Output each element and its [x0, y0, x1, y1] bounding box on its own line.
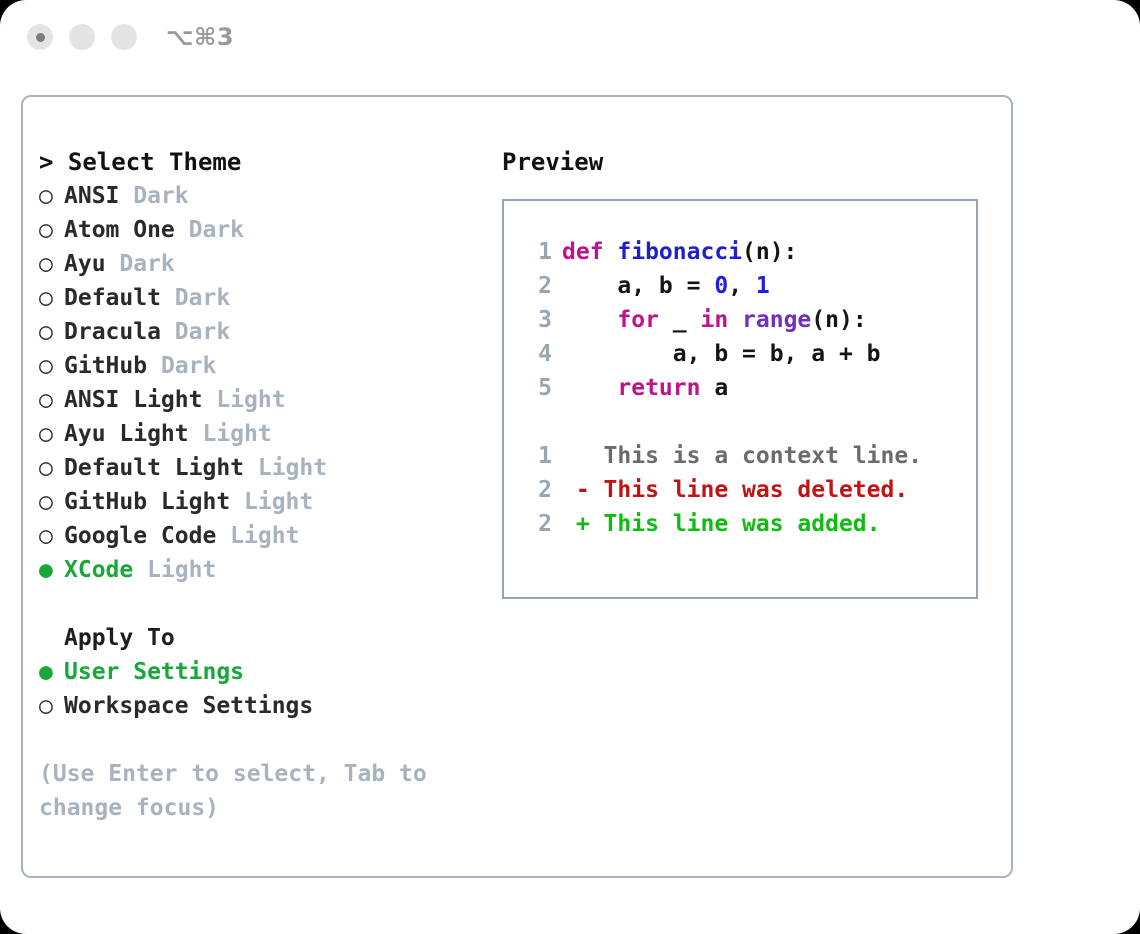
- theme-list-item[interactable]: ●XCode Light: [39, 553, 479, 587]
- theme-name: Ayu Light: [64, 421, 189, 447]
- code-token: for: [562, 307, 673, 333]
- code-token: (n):: [742, 239, 797, 265]
- code-token: fibonacci: [617, 239, 742, 265]
- code-token: return: [562, 375, 714, 401]
- radio-unselected-icon: ○: [39, 689, 64, 723]
- theme-list-item[interactable]: ○Ayu Dark: [39, 247, 479, 281]
- code-token: 1: [756, 273, 770, 299]
- theme-list-item[interactable]: ○Google Code Light: [39, 519, 479, 553]
- apply-to-label: User Settings: [64, 659, 244, 685]
- theme-list-item[interactable]: ○Ayu Light Light: [39, 417, 479, 451]
- radio-unselected-icon: ○: [39, 349, 64, 383]
- line-number: 1: [522, 235, 552, 269]
- radio-unselected-icon: ○: [39, 179, 64, 213]
- keyboard-hint-text: (Use Enter to select, Tab to change focu…: [39, 757, 439, 825]
- theme-name: Dracula: [64, 319, 161, 345]
- theme-name: Default: [64, 285, 161, 311]
- theme-list[interactable]: ○ANSI Dark○Atom One Dark○Ayu Dark○Defaul…: [39, 179, 479, 587]
- preview-heading: Preview: [502, 145, 992, 179]
- theme-variant-badge: Dark: [161, 319, 230, 345]
- window-dot-minimize[interactable]: [69, 24, 95, 50]
- code-token: range: [742, 307, 811, 333]
- radio-unselected-icon: ○: [39, 383, 64, 417]
- apply-to-list[interactable]: ●User Settings○Workspace Settings: [39, 655, 479, 723]
- theme-list-item[interactable]: ○Default Light Light: [39, 451, 479, 485]
- title-bar: ⌥⌘3: [0, 0, 1140, 78]
- code-token: ,: [728, 273, 756, 299]
- radio-unselected-icon: ○: [39, 451, 64, 485]
- line-number: 1: [522, 439, 552, 473]
- theme-variant-badge: Dark: [147, 353, 216, 379]
- theme-name: GitHub Light: [64, 489, 230, 515]
- theme-list-item[interactable]: ○Dracula Dark: [39, 315, 479, 349]
- radio-unselected-icon: ○: [39, 281, 64, 315]
- theme-name: Atom One: [64, 217, 175, 243]
- code-token: a, b = b, a + b: [562, 341, 881, 367]
- line-number: 2: [522, 507, 552, 541]
- code-token: a, b =: [562, 273, 714, 299]
- theme-list-item[interactable]: ○ANSI Dark: [39, 179, 479, 213]
- line-number: 3: [522, 303, 552, 337]
- line-number: 2: [522, 473, 552, 507]
- theme-name: Ayu: [64, 251, 106, 277]
- theme-name: ANSI Light: [64, 387, 202, 413]
- code-token: _: [673, 307, 701, 333]
- line-number: 2: [522, 269, 552, 303]
- diff-sample: 1 This is a context line.2 - This line w…: [504, 439, 976, 541]
- code-token: 0: [714, 273, 728, 299]
- apply-to-option[interactable]: ○Workspace Settings: [39, 689, 479, 723]
- theme-name: ANSI: [64, 183, 119, 209]
- code-token: a: [714, 375, 728, 401]
- radio-selected-icon: ●: [39, 553, 64, 587]
- window-dot-active-indicator: [36, 33, 45, 42]
- code-line: 4 a, b = b, a + b: [504, 337, 976, 371]
- radio-unselected-icon: ○: [39, 485, 64, 519]
- code-token: in: [700, 307, 742, 333]
- keyboard-shortcut-label: ⌥⌘3: [166, 23, 234, 51]
- theme-variant-badge: Dark: [161, 285, 230, 311]
- theme-variant-badge: Light: [244, 455, 327, 481]
- line-number: 5: [522, 371, 552, 405]
- theme-list-item[interactable]: ○Default Dark: [39, 281, 479, 315]
- diff-line: 1 This is a context line.: [504, 439, 976, 473]
- radio-unselected-icon: ○: [39, 417, 64, 451]
- code-token: def: [562, 239, 617, 265]
- preview-panel: 1def fibonacci(n):2 a, b = 0, 13 for _ i…: [502, 199, 978, 599]
- theme-variant-badge: Light: [189, 421, 272, 447]
- window-dot-close[interactable]: [27, 24, 53, 50]
- theme-variant-badge: Light: [216, 523, 299, 549]
- radio-unselected-icon: ○: [39, 247, 64, 281]
- window-controls: [27, 24, 137, 50]
- window-dot-maximize[interactable]: [111, 24, 137, 50]
- theme-list-item[interactable]: ○Atom One Dark: [39, 213, 479, 247]
- apply-to-heading: Apply To: [39, 621, 479, 655]
- code-line: 1def fibonacci(n):: [504, 235, 976, 269]
- diff-line: 2 + This line was added.: [504, 507, 976, 541]
- theme-variant-badge: Light: [202, 387, 285, 413]
- radio-unselected-icon: ○: [39, 315, 64, 349]
- code-token: - This line was deleted.: [562, 477, 908, 503]
- select-theme-heading: > Select Theme: [39, 145, 479, 179]
- theme-variant-badge: Dark: [106, 251, 175, 277]
- radio-unselected-icon: ○: [39, 213, 64, 247]
- line-number: 4: [522, 337, 552, 371]
- radio-unselected-icon: ○: [39, 519, 64, 553]
- theme-variant-badge: Dark: [175, 217, 244, 243]
- theme-name: XCode: [64, 557, 133, 583]
- apply-to-label: Workspace Settings: [64, 693, 313, 719]
- theme-variant-badge: Light: [133, 557, 216, 583]
- code-token: + This line was added.: [562, 511, 881, 537]
- code-line: 5 return a: [504, 371, 976, 405]
- theme-name: GitHub: [64, 353, 147, 379]
- theme-list-item[interactable]: ○GitHub Light Light: [39, 485, 479, 519]
- terminal-frame: > Select Theme ○ANSI Dark○Atom One Dark○…: [21, 95, 1013, 878]
- code-line: 3 for _ in range(n):: [504, 303, 976, 337]
- theme-variant-badge: Dark: [119, 183, 188, 209]
- theme-variant-badge: Light: [230, 489, 313, 515]
- code-token: (n):: [811, 307, 866, 333]
- hint-spacer: [39, 723, 479, 757]
- theme-name: Default Light: [64, 455, 244, 481]
- apply-to-option[interactable]: ●User Settings: [39, 655, 479, 689]
- code-diff-spacer: [504, 405, 976, 439]
- diff-line: 2 - This line was deleted.: [504, 473, 976, 507]
- radio-selected-icon: ●: [39, 655, 64, 689]
- list-spacer: [39, 587, 479, 621]
- theme-selector-column: > Select Theme ○ANSI Dark○Atom One Dark○…: [39, 145, 479, 825]
- theme-list-item[interactable]: ○GitHub Dark: [39, 349, 479, 383]
- theme-name: Google Code: [64, 523, 216, 549]
- theme-list-item[interactable]: ○ANSI Light Light: [39, 383, 479, 417]
- preview-column: Preview 1def fibonacci(n):2 a, b = 0, 13…: [502, 145, 992, 599]
- code-token: This is a context line.: [562, 443, 922, 469]
- code-line: 2 a, b = 0, 1: [504, 269, 976, 303]
- app-window: ⌥⌘3 > Select Theme ○ANSI Dark○Atom One D…: [0, 0, 1140, 934]
- code-sample: 1def fibonacci(n):2 a, b = 0, 13 for _ i…: [504, 235, 976, 405]
